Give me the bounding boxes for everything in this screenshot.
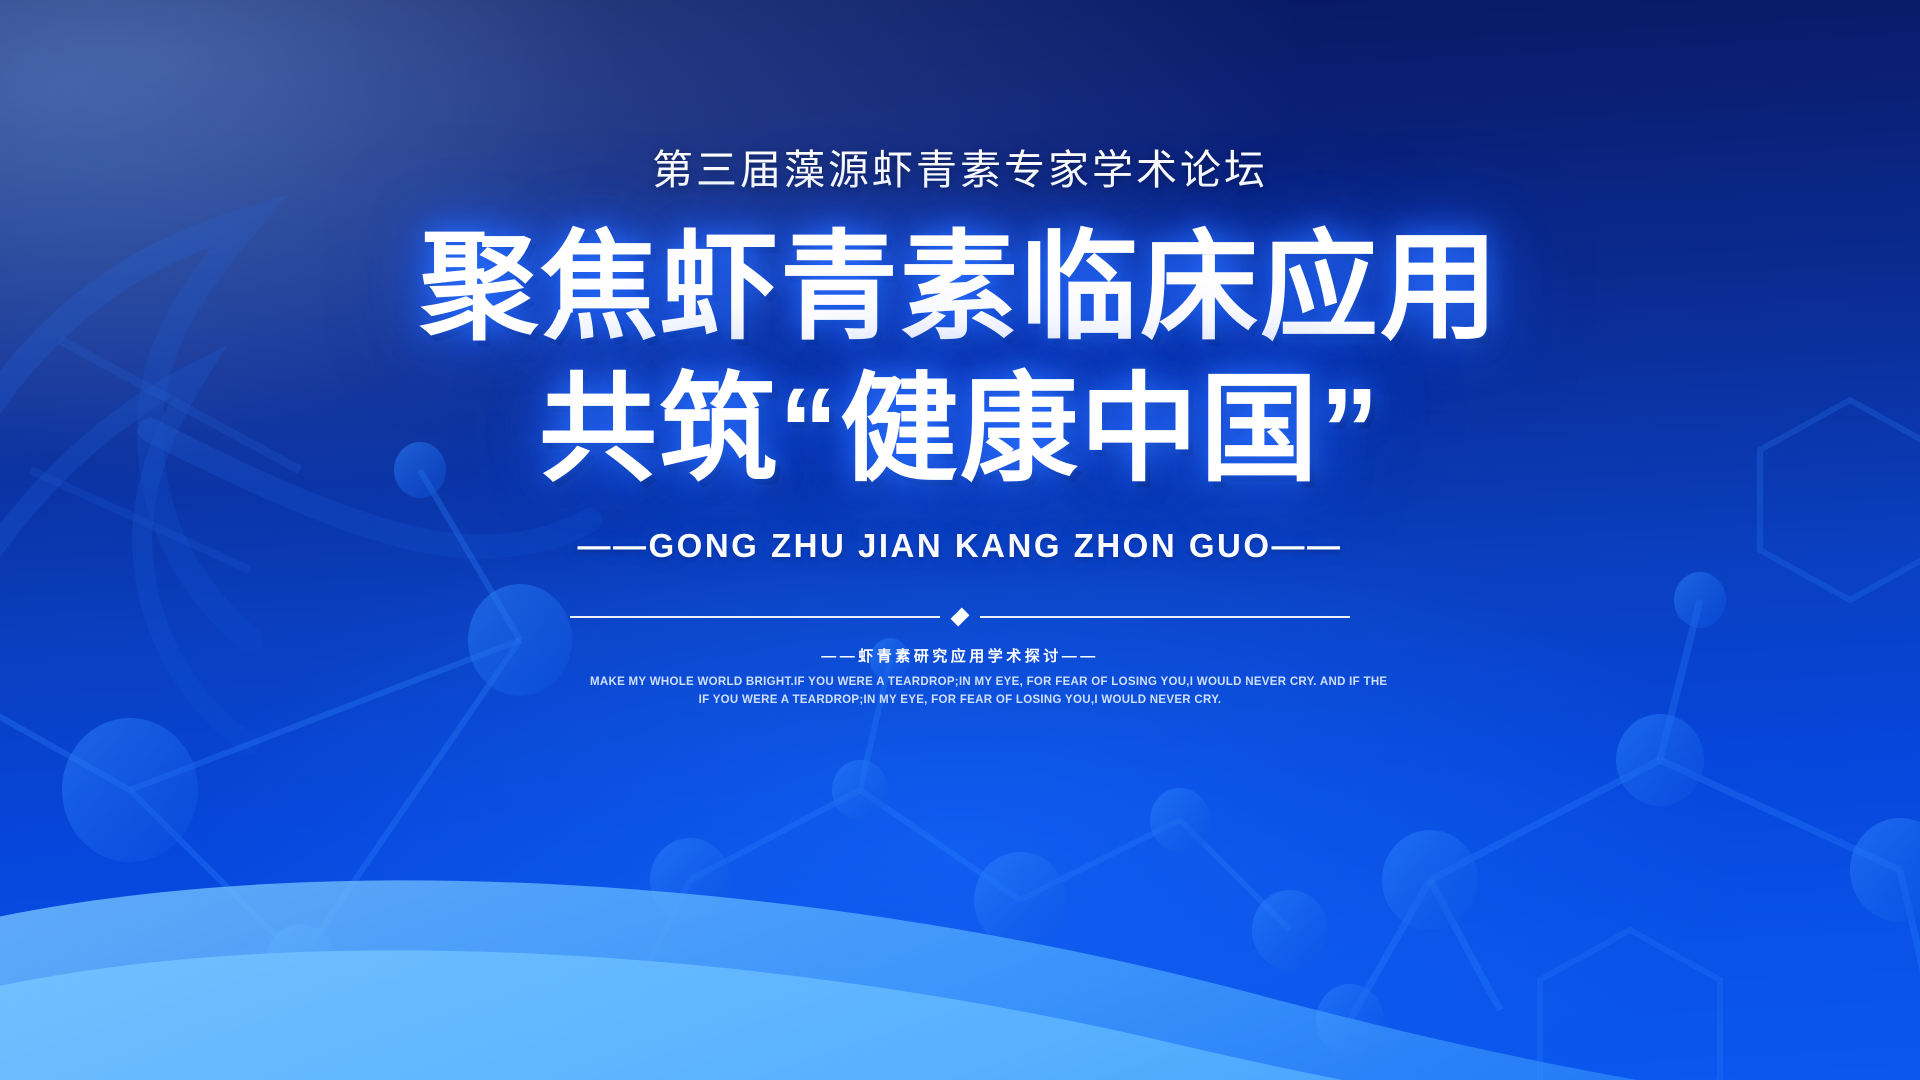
poster-canvas: 第三届藻源虾青素专家学术论坛 聚焦虾青素临床应用 共筑“健康中国” ——GONG… [0, 0, 1920, 1080]
sub-chinese-caption: ——虾青素研究应用学术探讨—— [0, 645, 1920, 666]
headline-line-2: 共筑“健康中国” [0, 360, 1920, 500]
divider-rule-right [980, 616, 1350, 618]
event-eyebrow-title: 第三届藻源虾青素专家学术论坛 [0, 136, 1920, 196]
fineprint-line-2: IF YOU WERE A TEARDROP;IN MY EYE, FOR FE… [590, 691, 1330, 710]
diamond-divider [0, 609, 1920, 625]
divider-rule-left [570, 616, 940, 618]
fineprint-line-1: MAKE MY WHOLE WORLD BRIGHT.IF YOU WERE A… [590, 673, 1330, 692]
fineprint-block: MAKE MY WHOLE WORLD BRIGHT.IF YOU WERE A… [590, 673, 1330, 710]
poster-content: 第三届藻源虾青素专家学术论坛 聚焦虾青素临床应用 共筑“健康中国” ——GONG… [0, 0, 1920, 710]
pinyin-subtitle: ——GONG ZHU JIAN KANG ZHON GUO—— [0, 527, 1920, 565]
headline-block: 聚焦虾青素临床应用 共筑“健康中国” [0, 218, 1920, 501]
headline-line-1: 聚焦虾青素临床应用 [0, 218, 1920, 358]
diamond-icon [950, 607, 969, 626]
